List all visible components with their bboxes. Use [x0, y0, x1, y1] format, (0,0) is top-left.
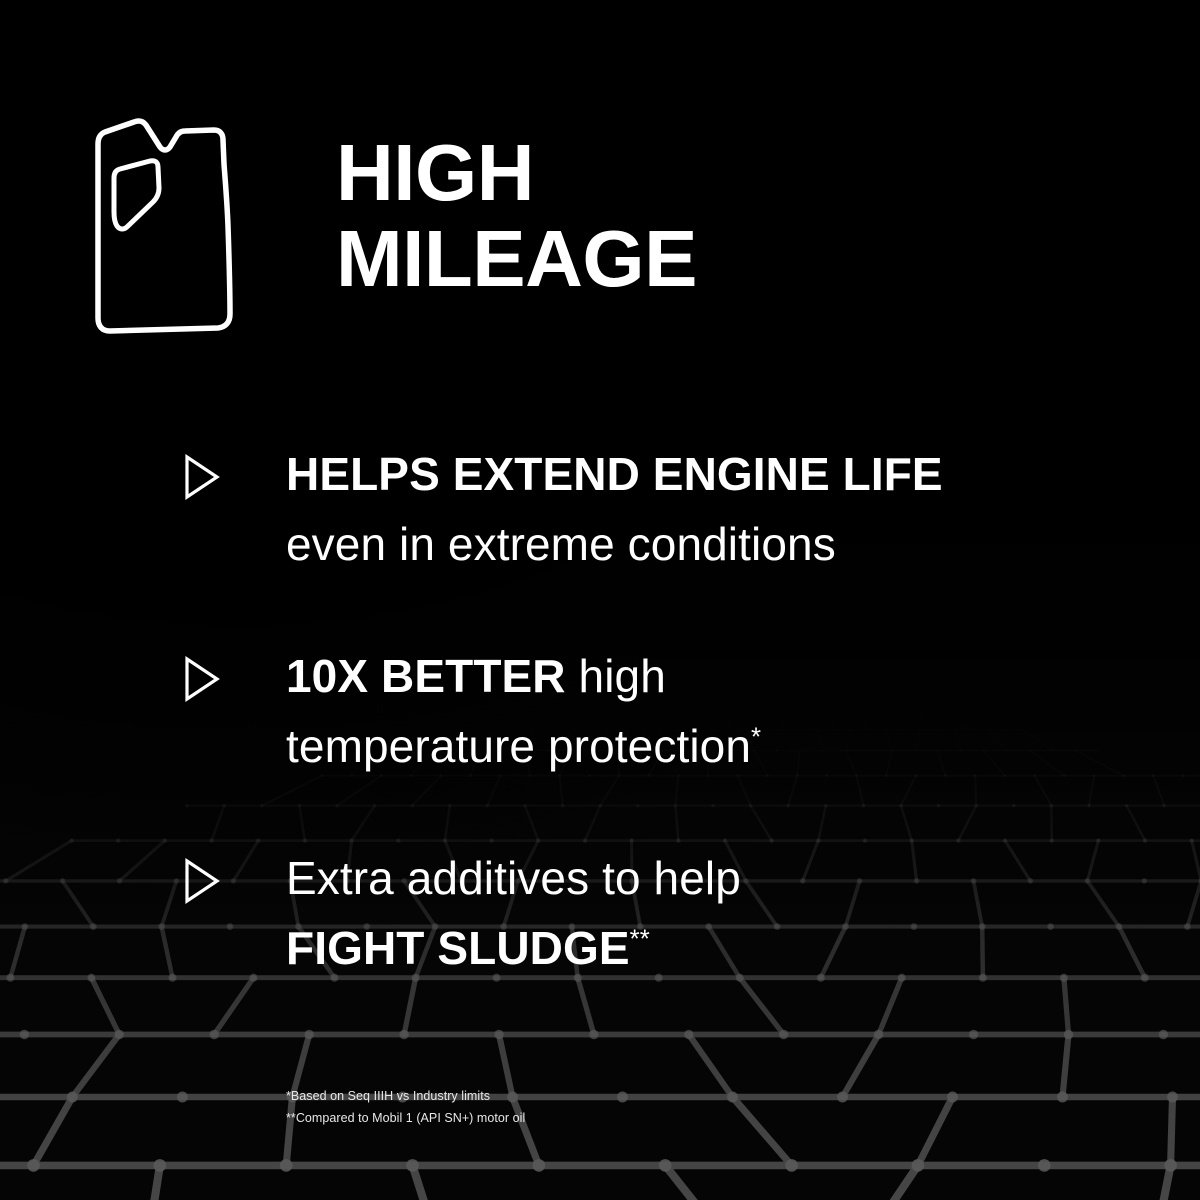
benefit-line-two-light: temperature protection: [286, 720, 751, 772]
benefit-superscript: *: [751, 723, 761, 751]
benefit-text: HELPS EXTEND ENGINE LIFE even in extreme…: [286, 440, 1200, 580]
benefit-light-tail: high: [566, 650, 666, 702]
triangle-bullet-icon: [183, 858, 221, 904]
header-block: HIGH MILEAGE: [84, 108, 697, 340]
benefit-text: 10X BETTER high temperature protection*: [286, 642, 1200, 782]
triangle-bullet-icon: [183, 656, 221, 702]
benefit-strong-lead: HELPS EXTEND ENGINE LIFE: [286, 448, 943, 500]
footnote-line-2: **Compared to Mobil 1 (API SN+) motor oi…: [286, 1108, 525, 1130]
list-item: Extra additives to help FIGHT SLUDGE**: [0, 844, 1200, 984]
benefit-line-two-strong: FIGHT SLUDGE: [286, 922, 630, 974]
list-item: 10X BETTER high temperature protection*: [0, 642, 1200, 782]
benefit-superscript: **: [630, 925, 650, 953]
high-mileage-poster: HIGH MILEAGE HELPS EXTEND ENGINE LIFE ev…: [0, 0, 1200, 1200]
page-title: HIGH MILEAGE: [336, 130, 697, 303]
benefit-light-tail: Extra additives to help: [286, 852, 741, 904]
benefit-text: Extra additives to help FIGHT SLUDGE**: [286, 844, 1200, 984]
footnotes-block: *Based on Seq IIIH vs Industry limits **…: [286, 1086, 525, 1129]
benefit-strong-lead: 10X BETTER: [286, 650, 566, 702]
footnote-line-1: *Based on Seq IIIH vs Industry limits: [286, 1086, 525, 1108]
benefits-list: HELPS EXTEND ENGINE LIFE even in extreme…: [0, 440, 1200, 983]
triangle-bullet-icon: [183, 454, 221, 500]
list-item: HELPS EXTEND ENGINE LIFE even in extreme…: [0, 440, 1200, 580]
benefit-line-two-light: even in extreme conditions: [286, 518, 836, 570]
oil-jug-icon: [84, 108, 244, 340]
